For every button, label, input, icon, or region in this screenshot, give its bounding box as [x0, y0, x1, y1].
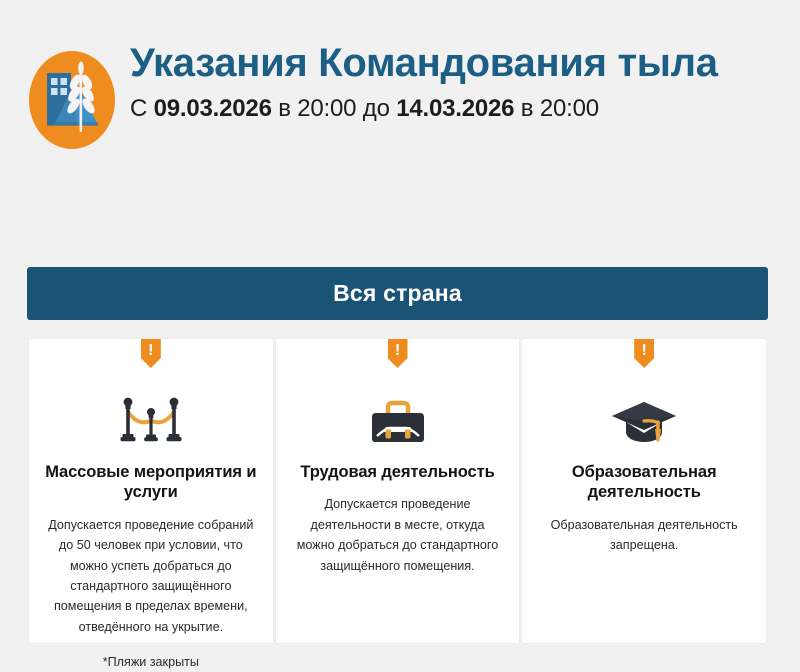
period-prefix: С: [130, 95, 147, 122]
page-title: Указания Командования тыла: [130, 42, 800, 84]
warning-shield-mark: !: [395, 343, 400, 359]
header-text-block: Указания Командования тыла С 09.03.2026 …: [130, 42, 800, 124]
region-banner-label: Вся страна: [333, 280, 462, 307]
warning-shield-icon: !: [388, 339, 408, 368]
briefcase-icon: [366, 388, 430, 448]
period-mid-to: в: [521, 95, 534, 122]
warning-shield-icon: !: [634, 339, 654, 368]
card-title: Массовые мероприятия и услуги: [45, 462, 257, 503]
warning-shield-mark: !: [148, 343, 153, 359]
period-time-to: 20:00: [540, 95, 599, 122]
stanchion-rope-barrier-icon: [114, 388, 188, 448]
graduation-cap-icon: [608, 388, 680, 448]
guidelines-card-list: !: [29, 339, 766, 643]
period-date-from: 09.03.2026: [154, 95, 272, 122]
warning-shield-icon: !: [141, 339, 161, 368]
card-body: Образовательная деятельность запрещена.: [538, 515, 750, 556]
guideline-card-education[interactable]: ! Образовательная деятельность Образоват…: [522, 339, 766, 643]
region-banner[interactable]: Вся страна: [27, 267, 768, 320]
period-mid-from: в: [278, 95, 291, 122]
card-title: Образовательная деятельность: [538, 462, 750, 503]
warning-shield-mark: !: [642, 343, 647, 359]
card-note: *Пляжи закрыты: [103, 653, 199, 672]
card-body: Допускается проведение собраний до 50 че…: [45, 515, 257, 637]
page-header: Указания Командования тыла С 09.03.2026 …: [0, 0, 800, 250]
period-connector: до: [363, 95, 390, 122]
card-title: Трудовая деятельность: [300, 462, 494, 482]
period-time-from: 20:00: [297, 95, 356, 122]
period-date-to: 14.03.2026: [396, 95, 514, 122]
guideline-card-work-activity[interactable]: ! Трудовая деятельность Допускается пров…: [276, 339, 520, 643]
shelter-building-wheat-icon: [28, 48, 116, 152]
card-body: Допускается проведение деятельности в ме…: [292, 494, 504, 576]
guideline-card-mass-events[interactable]: !: [29, 339, 273, 643]
validity-period: С 09.03.2026 в 20:00 до 14.03.2026 в 20:…: [130, 95, 800, 124]
